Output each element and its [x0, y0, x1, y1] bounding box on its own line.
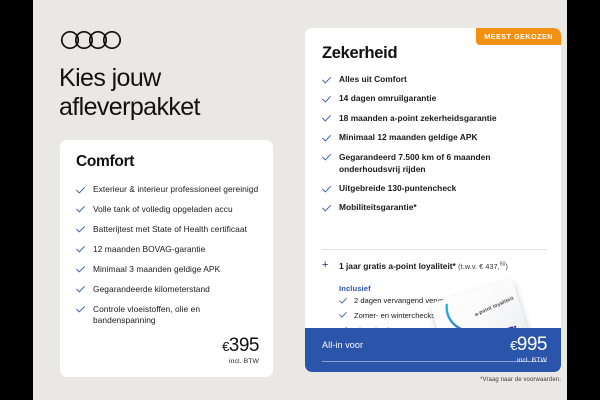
check-icon	[76, 306, 85, 313]
list-item-label: 18 maanden a-point zekerheidsgarantie	[339, 113, 497, 123]
list-item: Batterijtest met State of Health certifi…	[76, 224, 261, 236]
zekerheid-package-card[interactable]: MEEST GEKOZEN Zekerheid Alles uit Comfor…	[305, 28, 561, 372]
list-item: 12 maanden BOVAG-garantie	[76, 244, 261, 256]
letterbox-right	[567, 0, 600, 400]
bonus-label: 1 jaar gratis a-point loyaliteit*	[339, 261, 456, 271]
list-item: 18 maanden a-point zekerheidsgarantie	[322, 113, 547, 125]
check-icon	[76, 266, 85, 273]
check-icon	[322, 115, 331, 122]
price-value: 995	[517, 334, 547, 355]
currency-symbol: €	[510, 338, 517, 353]
check-icon	[322, 186, 331, 193]
list-item: Minimaal 3 maanden geldige APK	[76, 264, 261, 276]
included-label: Inclusief	[339, 284, 371, 293]
list-item-label: Alles uit Comfort	[339, 74, 407, 84]
letterbox-left	[0, 0, 33, 400]
list-item-label: Gegarandeerd 7.500 km of 6 maanden onder…	[339, 152, 491, 174]
list-item: 14 dagen omruilgarantie	[322, 93, 547, 105]
status-badge: MEEST GEKOZEN	[476, 28, 561, 45]
left-column: Kies jouw afleverpakket Comfort Exterieu…	[33, 0, 300, 400]
list-item: Exterieur & interieur professioneel gere…	[76, 184, 261, 196]
zekerheid-title: Zekerheid	[322, 44, 397, 63]
check-icon	[76, 286, 85, 293]
comfort-feature-list: Exterieur & interieur professioneel gere…	[76, 184, 261, 335]
comfort-price: €395	[222, 336, 259, 355]
list-item-label: Batterijtest met State of Health certifi…	[93, 224, 247, 234]
list-item-label: 14 dagen omruilgarantie	[339, 93, 436, 103]
zekerheid-price: €995	[510, 335, 547, 354]
check-icon	[322, 135, 331, 142]
check-icon	[76, 187, 85, 194]
zekerheid-feature-list: Alles uit Comfort 14 dagen omruilgaranti…	[322, 74, 547, 222]
check-icon	[339, 312, 347, 318]
list-item: Alles uit Comfort	[322, 74, 547, 86]
list-item-label: Mobiliteitsgarantie*	[339, 202, 417, 212]
comfort-title: Comfort	[76, 153, 134, 171]
currency-symbol: €	[222, 339, 229, 354]
plus-icon: +	[322, 260, 328, 271]
zekerheid-price-block: €995 incl. BTW	[510, 335, 547, 364]
check-icon	[322, 77, 331, 84]
bonus-value-suffix: )	[506, 262, 509, 271]
list-item: Mobiliteitsgarantie*	[322, 202, 547, 214]
list-item: Minimaal 12 maanden geldige APK	[322, 132, 547, 144]
check-icon	[76, 206, 85, 213]
comfort-price-note: incl. BTW	[222, 358, 259, 365]
promo-canvas: Kies jouw afleverpakket Comfort Exterieu…	[33, 0, 567, 400]
check-icon	[339, 298, 347, 304]
list-item: Gegarandeerd 7.500 km of 6 maanden onder…	[322, 152, 547, 176]
screenshot-stage: Kies jouw afleverpakket Comfort Exterieu…	[0, 0, 600, 400]
comfort-package-card[interactable]: Comfort Exterieur & interieur profession…	[60, 140, 273, 377]
list-item: Controle vloeistoffen, olie en bandenspa…	[76, 304, 261, 328]
list-item-label: Uitgebreide 130-puntencheck	[339, 183, 456, 193]
list-item: Gegarandeerde kilometerstand	[76, 284, 261, 296]
list-item-label: Minimaal 12 maanden geldige APK	[339, 132, 478, 142]
bonus-value-prefix: (t.w.v. € 437,	[458, 262, 500, 271]
bonus-value: (t.w.v. € 437,50)	[458, 262, 508, 271]
footer-price-label: All-in voor	[322, 340, 363, 350]
footer-rule	[322, 361, 547, 362]
price-footer-bar: All-in voor €995 incl. BTW	[305, 328, 561, 372]
list-item: Volle tank of volledig opgeladen accu	[76, 204, 261, 216]
check-icon	[322, 205, 331, 212]
section-divider	[322, 249, 547, 250]
page-title: Kies jouw afleverpakket	[59, 64, 289, 123]
bonus-row: + 1 jaar gratis a-point loyaliteit* (t.w…	[322, 261, 549, 271]
disclaimer-text: *Vraag naar de voorwaarden.	[305, 377, 565, 383]
check-icon	[76, 246, 85, 253]
list-item: Uitgebreide 130-puntencheck	[322, 183, 547, 195]
price-value: 395	[229, 335, 259, 356]
list-item-label: 12 maanden BOVAG-garantie	[93, 244, 205, 254]
list-item-label: Exterieur & interieur professioneel gere…	[93, 184, 258, 194]
list-item-label: Minimaal 3 maanden geldige APK	[93, 264, 220, 274]
check-icon	[76, 226, 85, 233]
check-icon	[322, 154, 331, 161]
list-item-label: Gegarandeerde kilometerstand	[93, 284, 210, 294]
audi-four-rings-logo	[60, 29, 122, 51]
list-item-label: Controle vloeistoffen, olie en bandenspa…	[93, 304, 200, 326]
comfort-price-block: €395 incl. BTW	[222, 336, 259, 365]
list-item-label: Zomer- en winterchecks	[354, 311, 435, 320]
check-icon	[322, 96, 331, 103]
list-item-label: Volle tank of volledig opgeladen accu	[93, 204, 233, 214]
